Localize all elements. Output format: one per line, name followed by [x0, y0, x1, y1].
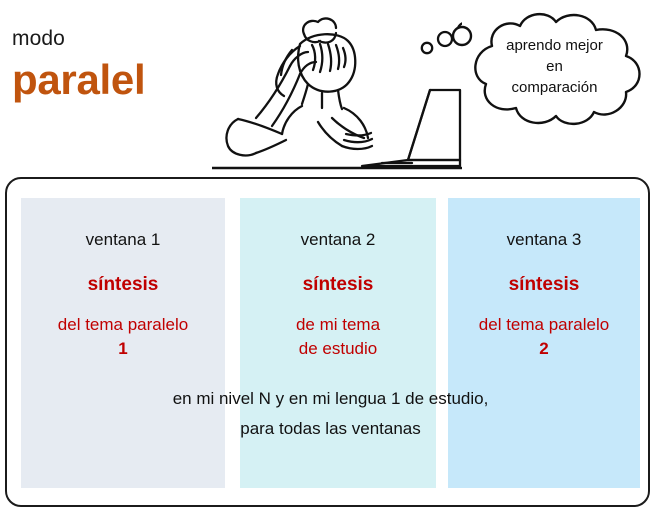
description-text-2: de mi tema: [296, 315, 380, 334]
window-label-3: ventana 3: [448, 231, 640, 250]
synthesis-description-3: del tema paralelo 2: [448, 313, 640, 361]
synthesis-label-1: síntesis: [21, 275, 225, 296]
window-column-1[interactable]: ventana 1 síntesis del tema paralelo 1: [21, 198, 225, 488]
header-area: modo paralel: [0, 0, 657, 176]
thought-line-1: aprendo mejor: [506, 35, 603, 56]
window-label-2: ventana 2: [240, 231, 436, 250]
thought-line-3: comparación: [512, 77, 598, 98]
title-block: modo paralel: [12, 28, 222, 103]
description-emphasis-1: 1: [21, 337, 225, 361]
windows-panel: ventana 1 síntesis del tema paralelo 1 v…: [5, 177, 650, 507]
student-at-laptop-icon: [212, 0, 462, 176]
columns-container: ventana 1 síntesis del tema paralelo 1 v…: [21, 198, 640, 488]
title-kicker: modo: [12, 28, 222, 50]
thought-line-2: en: [546, 56, 563, 77]
description-emphasis-3: 2: [448, 337, 640, 361]
description-emphasis-2: de estudio: [240, 337, 436, 361]
window-label-1: ventana 1: [21, 231, 225, 250]
thought-bubble: aprendo mejor en comparación: [448, 4, 653, 129]
synthesis-description-1: del tema paralelo 1: [21, 313, 225, 361]
page-title: paralel: [12, 56, 222, 103]
synthesis-label-2: síntesis: [240, 275, 436, 296]
window-column-2[interactable]: ventana 2 síntesis de mi tema de estudio: [240, 198, 436, 488]
synthesis-description-2: de mi tema de estudio: [240, 313, 436, 361]
thought-bubble-text: aprendo mejor en comparación: [448, 4, 653, 129]
synthesis-label-3: síntesis: [448, 275, 640, 296]
description-text-1: del tema paralelo: [58, 315, 188, 334]
window-column-3[interactable]: ventana 3 síntesis del tema paralelo 2: [448, 198, 640, 488]
description-text-3: del tema paralelo: [479, 315, 609, 334]
